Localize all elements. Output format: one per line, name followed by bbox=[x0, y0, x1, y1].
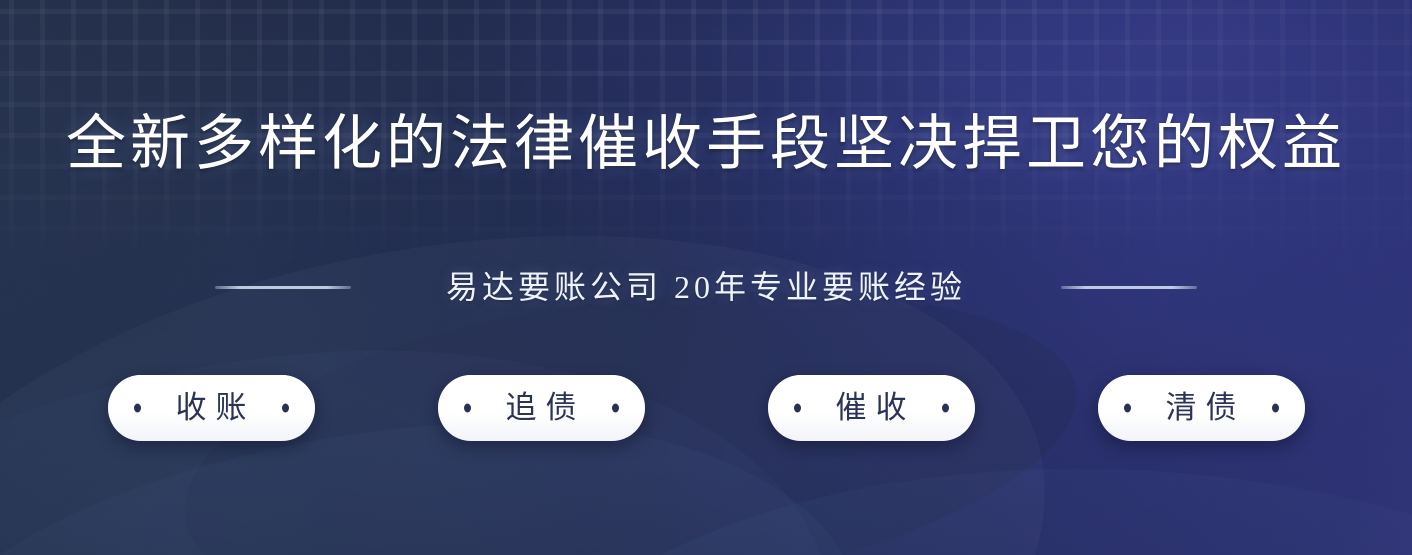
banner-content: 全新多样化的法律催收手段坚决捍卫您的权益 易达要账公司 20年专业要账经验 收账… bbox=[0, 0, 1412, 555]
pill-dot-left-icon bbox=[1124, 404, 1131, 413]
right-rule-decoration bbox=[1061, 286, 1197, 289]
left-rule-decoration bbox=[215, 286, 351, 289]
pill-dot-left-icon bbox=[794, 404, 801, 413]
pill-dot-right-icon bbox=[1272, 404, 1279, 413]
service-pill-qingzhai[interactable]: 清债 bbox=[1098, 375, 1305, 441]
pill-dot-left-icon bbox=[464, 404, 471, 413]
pill-dot-right-icon bbox=[942, 404, 949, 413]
pill-dot-left-icon bbox=[134, 404, 141, 413]
pill-dot-right-icon bbox=[282, 404, 289, 413]
service-pill-cuishou[interactable]: 催收 bbox=[768, 375, 975, 441]
subtitle-row: 易达要账公司 20年专业要账经验 bbox=[0, 264, 1412, 310]
service-pill-label: 清债 bbox=[1157, 388, 1246, 428]
pill-dot-right-icon bbox=[612, 404, 619, 413]
subtitle: 易达要账公司 20年专业要账经验 bbox=[446, 264, 966, 310]
promo-banner: 全新多样化的法律催收手段坚决捍卫您的权益 易达要账公司 20年专业要账经验 收账… bbox=[0, 0, 1412, 555]
service-pill-zhuizhai[interactable]: 追债 bbox=[438, 375, 645, 441]
service-pill-group: 收账 追债 催收 清债 bbox=[0, 375, 1412, 441]
service-pill-label: 收账 bbox=[167, 388, 256, 428]
headline: 全新多样化的法律催收手段坚决捍卫您的权益 bbox=[0, 108, 1412, 180]
service-pill-shouzhang[interactable]: 收账 bbox=[108, 375, 315, 441]
service-pill-label: 催收 bbox=[827, 388, 916, 428]
service-pill-label: 追债 bbox=[497, 388, 586, 428]
